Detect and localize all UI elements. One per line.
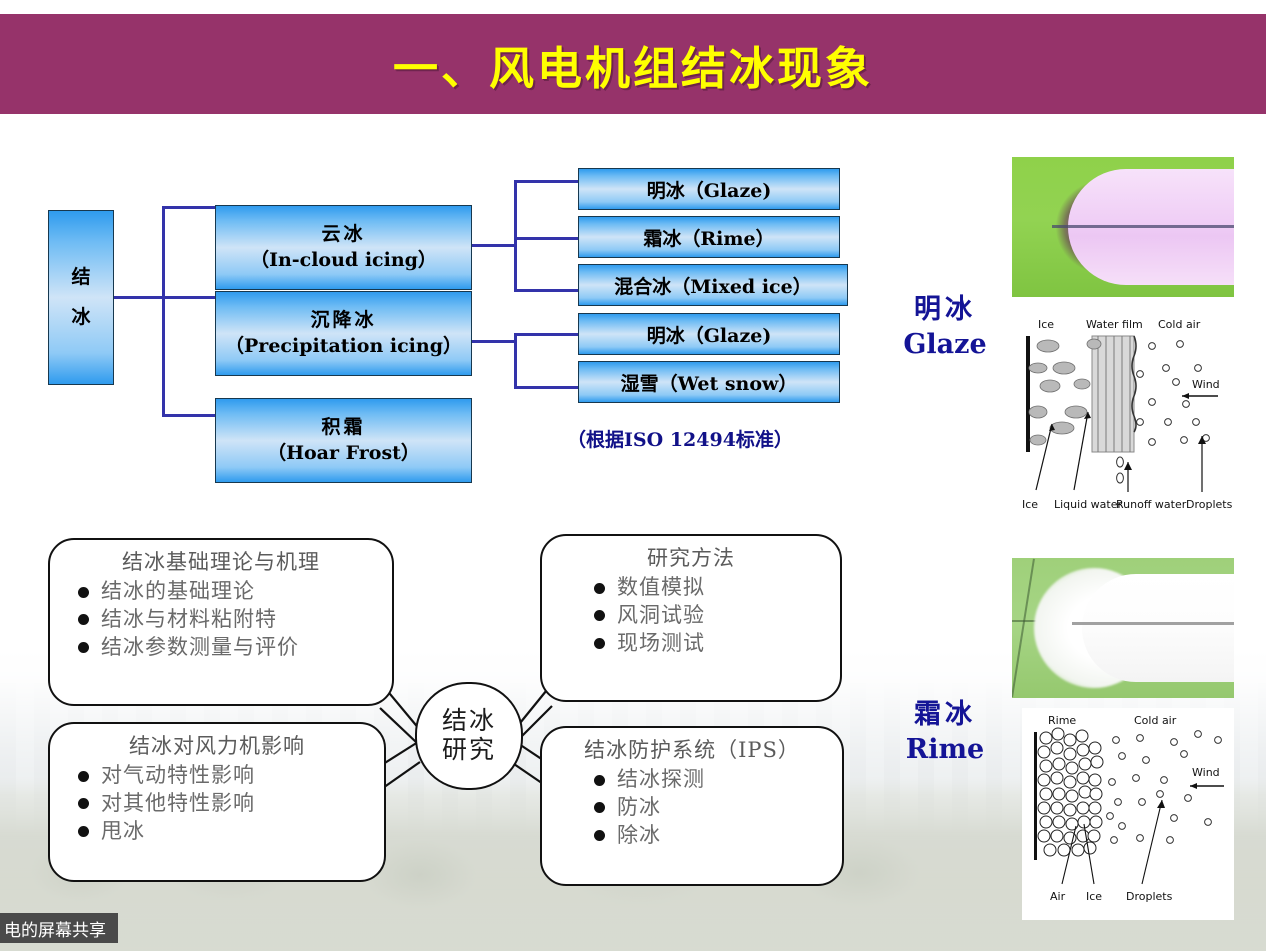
bullet-icon [78,771,89,782]
connector-to-glaze-2 [514,333,580,336]
bubble-methods-title: 研究方法 [552,544,830,572]
glaze-label-cold-air: Cold air [1158,318,1201,331]
rime-label-rime: Rime [1048,714,1076,727]
mindmap-bubble-effects: 结冰对风力机影响 对气动特性影响 对其他特性影响 甩冰 [48,722,386,882]
bullet-icon [78,798,89,809]
list-item: 除冰 [594,822,832,850]
screen-share-label: 电的屏幕共享 [4,916,106,941]
mindmap-hub: 结冰 研究 [415,682,523,790]
glaze-ice-schematic: Ice Water film Cold air Wind Ice Liquid … [1010,312,1248,524]
list-item: 结冰的基础理论 [78,578,382,606]
diagram-node-wet-snow: 湿雪（Wet snow） [578,361,840,403]
glaze-label-ice-top: Ice [1038,318,1054,331]
bubble-effects-title: 结冰对风力机影响 [60,732,374,760]
rime-ice-schematic: Rime Cold air Wind Air Ice Droplets [1022,708,1234,920]
diagram-node-hoar-frost: 积霜 （Hoar Frost） [215,398,472,483]
screen-share-indicator: 电的屏幕共享 [0,913,118,943]
connector-to-wetsnow [514,386,580,389]
bullet-icon [78,826,89,837]
connector-precip-out [472,340,516,343]
bubble-ips-item-1: 结冰探测 [617,766,705,794]
bubble-ips-item-3: 除冰 [617,822,661,850]
bullet-icon [594,830,605,841]
side-label-rime-en: Rime [875,732,1015,768]
bubble-effects-item-3: 甩冰 [101,818,145,846]
connector-incloud-out [472,244,516,247]
hub-line-1: 结冰 [442,707,496,736]
connector-to-mixed [514,289,580,292]
bubble-ips-title: 结冰防护系统（IPS） [552,736,832,764]
bullet-icon [594,802,605,813]
bubble-theory-item-2: 结冰与材料粘附特 [101,606,277,634]
bullet-icon [78,642,89,653]
mindmap-bubble-methods: 研究方法 数值模拟 风洞试验 现场测试 [540,534,842,702]
leaf-label-mixed-ice: 混合冰（Mixed ice） [614,272,811,299]
bubble-theory-item-1: 结冰的基础理论 [101,578,255,606]
side-label-rime-cn: 霜冰 [875,698,1015,732]
leaf-label-glaze-1: 明冰（Glaze) [647,176,772,203]
list-item: 对气动特性影响 [78,762,374,790]
bullet-icon [594,638,605,649]
bubble-effects-item-1: 对气动特性影响 [101,762,255,790]
rime-airfoil-shape [1082,574,1234,682]
list-item: 甩冰 [78,818,374,846]
side-label-glaze-en: Glaze [875,327,1015,363]
connector-precip-spine [514,333,517,389]
list-item: 风洞试验 [594,602,830,630]
root-label-line2: 冰 [71,305,90,331]
rime-chord-line [1072,622,1234,625]
glaze-ice-photo [1012,157,1234,297]
presentation-slide: 一、风电机组结冰现象 结 冰 云冰 （In-cloud icing） 沉降冰 （… [0,0,1266,951]
bubble-methods-item-3: 现场测试 [617,630,705,658]
bubble-methods-item-1: 数值模拟 [617,574,705,602]
rime-label-wind: Wind [1192,766,1220,779]
connector-root-spine [162,206,165,416]
connector-root-out [114,296,164,299]
diagram-node-mixed-ice: 混合冰（Mixed ice） [578,264,848,306]
bubble-effects-list: 对气动特性影响 对其他特性影响 甩冰 [60,762,374,845]
bullet-icon [78,614,89,625]
bubble-ips-item-2: 防冰 [617,794,661,822]
bullet-icon [594,775,605,786]
glaze-label-liquid-water: Liquid water [1054,498,1122,511]
slide-title: 一、风电机组结冰现象 [393,32,873,97]
root-label-line1: 结 [71,265,90,291]
rime-photo-gridline-1 [1012,559,1035,698]
node-in-cloud-cn: 云冰 [321,222,365,248]
leaf-label-wet-snow: 湿雪（Wet snow） [621,369,798,396]
glaze-label-ice-bottom: Ice [1022,498,1038,511]
diagram-node-root: 结 冰 [48,210,114,385]
diagram-node-glaze-2: 明冰（Glaze) [578,313,840,355]
list-item: 结冰探测 [594,766,832,794]
connector-to-incloud [162,206,217,209]
glaze-chord-line [1052,225,1234,228]
bubble-theory-list: 结冰的基础理论 结冰与材料粘附特 结冰参数测量与评价 [60,578,382,661]
leaf-label-rime: 霜冰（Rime） [643,224,774,251]
icing-research-mindmap: 结冰基础理论与机理 结冰的基础理论 结冰与材料粘附特 结冰参数测量与评价 研究方… [40,530,860,890]
glaze-schematic-svg: Ice Water film Cold air Wind Ice Liquid … [1010,312,1248,524]
side-label-rime: 霜冰 Rime [875,698,1015,768]
bullet-icon [78,587,89,598]
connector-to-rime [514,237,580,240]
slide-title-banner: 一、风电机组结冰现象 [0,14,1266,114]
glaze-label-wind: Wind [1192,378,1220,391]
connector-to-precip [162,296,217,299]
bubble-ips-list: 结冰探测 防冰 除冰 [552,766,832,849]
hub-line-2: 研究 [442,736,496,765]
diagram-node-in-cloud-icing: 云冰 （In-cloud icing） [215,205,472,290]
rime-label-ice: Ice [1086,890,1102,903]
bubble-methods-item-2: 风洞试验 [617,602,705,630]
list-item: 结冰与材料粘附特 [78,606,382,634]
node-frost-cn: 积霜 [321,415,365,441]
connector-to-glaze-1 [514,180,580,183]
list-item: 对其他特性影响 [78,790,374,818]
mindmap-bubble-ips: 结冰防护系统（IPS） 结冰探测 防冰 除冰 [540,726,844,886]
rime-label-air: Air [1050,890,1066,903]
rime-label-droplets: Droplets [1126,890,1173,903]
bubble-effects-item-2: 对其他特性影响 [101,790,255,818]
list-item: 现场测试 [594,630,830,658]
diagram-node-glaze-1: 明冰（Glaze) [578,168,840,210]
node-in-cloud-en: （In-cloud icing） [250,248,437,274]
node-frost-en: （Hoar Frost） [267,441,420,467]
mindmap-bubble-theory: 结冰基础理论与机理 结冰的基础理论 结冰与材料粘附特 结冰参数测量与评价 [48,538,394,706]
diagram-node-rime: 霜冰（Rime） [578,216,840,258]
rime-schematic-svg: Rime Cold air Wind Air Ice Droplets [1022,708,1234,920]
list-item: 防冰 [594,794,832,822]
glaze-label-droplets: Droplets [1186,498,1233,511]
iso-standard-note: （根据ISO 12494标准） [520,425,840,452]
connector-to-frost [162,414,217,417]
bullet-icon [594,583,605,594]
bubble-theory-title: 结冰基础理论与机理 [60,548,382,576]
list-item: 数值模拟 [594,574,830,602]
bullet-icon [594,610,605,621]
bubble-methods-list: 数值模拟 风洞试验 现场测试 [552,574,830,657]
bubble-theory-item-3: 结冰参数测量与评价 [101,634,299,662]
rime-ice-photo [1012,558,1234,698]
glaze-label-runoff-water: Runoff water [1116,498,1187,511]
node-precip-en: （Precipitation icing） [225,334,462,360]
side-label-glaze-cn: 明冰 [875,293,1015,327]
side-label-glaze: 明冰 Glaze [875,293,1015,363]
diagram-node-precipitation-icing: 沉降冰 （Precipitation icing） [215,291,472,376]
list-item: 结冰参数测量与评价 [78,634,382,662]
leaf-label-glaze-2: 明冰（Glaze) [647,321,772,348]
glaze-label-water-film: Water film [1086,318,1143,331]
connector-incloud-spine [514,180,517,292]
rime-label-cold-air: Cold air [1134,714,1177,727]
node-precip-cn: 沉降冰 [310,308,376,334]
